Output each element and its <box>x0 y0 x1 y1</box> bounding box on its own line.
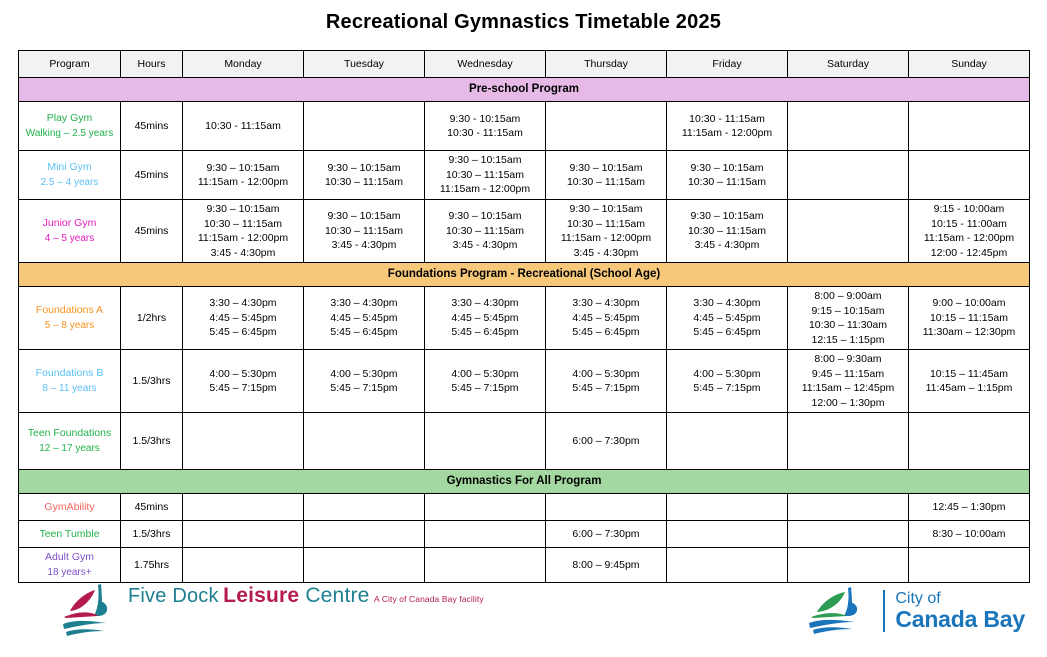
session-cell-monday: 9:30 – 10:15am11:15am - 12:00pm <box>183 151 304 200</box>
session-time: 3:45 - 4:30pm <box>306 238 422 253</box>
column-header-sunday: Sunday <box>909 51 1030 78</box>
session-time: 5:45 – 7:15pm <box>185 381 301 396</box>
session-time: 4:00 – 5:30pm <box>185 367 301 382</box>
session-time: 5:45 – 7:15pm <box>669 381 785 396</box>
session-time: 5:45 – 6:45pm <box>185 325 301 340</box>
session-time: 9:30 – 10:15am <box>669 209 785 224</box>
session-time: 9:30 – 10:15am <box>185 202 301 217</box>
column-header-wednesday: Wednesday <box>425 51 546 78</box>
program-name: Play Gym <box>21 111 118 126</box>
section-header-row-preschool: Pre-school Program <box>19 78 1030 102</box>
program-name: Foundations B <box>21 366 118 381</box>
session-time: 3:45 - 4:30pm <box>185 246 301 261</box>
session-time: 4:00 – 5:30pm <box>427 367 543 382</box>
session-cell-friday <box>667 494 788 521</box>
session-time: 11:15am – 12:45pm <box>790 381 906 396</box>
session-cell-sunday <box>909 102 1030 151</box>
session-cell-monday: 3:30 – 4:30pm4:45 – 5:45pm5:45 – 6:45pm <box>183 287 304 350</box>
session-time: 5:45 – 6:45pm <box>669 325 785 340</box>
session-time: 11:15am - 12:00pm <box>427 182 543 197</box>
session-cell-thursday: 9:30 – 10:15am10:30 – 11:15am <box>546 151 667 200</box>
section-heading: Pre-school Program <box>19 78 1030 102</box>
session-time: 5:45 – 6:45pm <box>306 325 422 340</box>
header-row: ProgramHoursMondayTuesdayWednesdayThursd… <box>19 51 1030 78</box>
logo-line-2-bold: Leisure <box>223 584 299 607</box>
session-time: 8:30 – 10:00am <box>911 527 1027 542</box>
table-row: Play GymWalking – 2.5 years45mins10:30 -… <box>19 102 1030 151</box>
session-time: 10:30 – 11:15am <box>427 168 543 183</box>
session-cell-wednesday <box>425 494 546 521</box>
session-time: 4:45 – 5:45pm <box>185 311 301 326</box>
column-header-monday: Monday <box>183 51 304 78</box>
session-cell-friday: 9:30 – 10:15am10:30 – 11:15am <box>667 151 788 200</box>
session-time: 8:00 – 9:45pm <box>548 558 664 573</box>
session-time: 10:30 – 11:15am <box>306 175 422 190</box>
table-row: Teen Tumble1.5/3hrs6:00 – 7:30pm8:30 – 1… <box>19 521 1030 548</box>
session-cell-tuesday <box>304 413 425 470</box>
session-cell-wednesday: 9:30 – 10:15am10:30 – 11:15am3:45 - 4:30… <box>425 200 546 263</box>
city-of-canada-bay-logo: City of Canada Bay <box>801 585 1025 637</box>
session-cell-tuesday <box>304 494 425 521</box>
session-cell-wednesday <box>425 521 546 548</box>
session-time: 10:15 - 11:00am <box>911 217 1027 232</box>
session-time: 11:15am - 12:00pm <box>185 231 301 246</box>
hours-cell: 45mins <box>121 494 183 521</box>
session-time: 4:00 – 5:30pm <box>669 367 785 382</box>
session-time: 5:45 – 6:45pm <box>427 325 543 340</box>
column-header-thursday: Thursday <box>546 51 667 78</box>
session-cell-tuesday: 4:00 – 5:30pm5:45 – 7:15pm <box>304 350 425 413</box>
session-cell-sunday: 9:00 – 10:00am10:15 – 11:15am11:30am – 1… <box>909 287 1030 350</box>
program-name: Foundations A <box>21 303 118 318</box>
section-heading: Gymnastics For All Program <box>19 470 1030 494</box>
session-cell-monday <box>183 494 304 521</box>
program-cell: Teen Foundations12 – 17 years <box>19 413 121 470</box>
session-time: 10:30 – 11:15am <box>548 175 664 190</box>
session-time: 3:30 – 4:30pm <box>669 296 785 311</box>
program-age-range: Walking – 2.5 years <box>21 127 118 141</box>
session-time: 11:15am - 12:00pm <box>185 175 301 190</box>
hours-cell: 1/2hrs <box>121 287 183 350</box>
session-cell-thursday: 9:30 – 10:15am10:30 – 11:15am11:15am - 1… <box>546 200 667 263</box>
session-time: 10:15 – 11:45am <box>911 367 1027 382</box>
logo-tagline: A City of Canada Bay facility <box>374 594 484 604</box>
table-row: Foundations B8 – 11 years1.5/3hrs4:00 – … <box>19 350 1030 413</box>
session-cell-saturday: 8:00 – 9:00am9:15 – 10:15am10:30 – 11:30… <box>788 287 909 350</box>
program-cell: Mini Gym2.5 – 4 years <box>19 151 121 200</box>
column-header-hours: Hours <box>121 51 183 78</box>
session-time: 10:30 – 11:15am <box>185 217 301 232</box>
session-cell-monday: 9:30 – 10:15am10:30 – 11:15am11:15am - 1… <box>183 200 304 263</box>
session-cell-saturday <box>788 102 909 151</box>
session-cell-thursday <box>546 494 667 521</box>
session-cell-thursday: 4:00 – 5:30pm5:45 – 7:15pm <box>546 350 667 413</box>
session-cell-friday <box>667 521 788 548</box>
session-cell-sunday: 12:45 – 1:30pm <box>909 494 1030 521</box>
session-time: 3:45 - 4:30pm <box>669 238 785 253</box>
session-time: 3:45 - 4:30pm <box>548 246 664 261</box>
session-time: 9:30 – 10:15am <box>548 161 664 176</box>
session-time: 10:30 - 11:15am <box>185 119 301 134</box>
canada-bay-logo-text: City of Canada Bay <box>895 590 1025 632</box>
table-row: Junior Gym4 – 5 years45mins9:30 – 10:15a… <box>19 200 1030 263</box>
column-header-tuesday: Tuesday <box>304 51 425 78</box>
session-cell-wednesday <box>425 413 546 470</box>
program-cell: Teen Tumble <box>19 521 121 548</box>
table-head: ProgramHoursMondayTuesdayWednesdayThursd… <box>19 51 1030 78</box>
program-cell: Junior Gym4 – 5 years <box>19 200 121 263</box>
session-cell-friday: 3:30 – 4:30pm4:45 – 5:45pm5:45 – 6:45pm <box>667 287 788 350</box>
session-time: 9:30 – 10:15am <box>427 209 543 224</box>
session-cell-monday: 4:00 – 5:30pm5:45 – 7:15pm <box>183 350 304 413</box>
session-time: 11:15am - 12:00pm <box>669 126 785 141</box>
program-cell: GymAbility <box>19 494 121 521</box>
session-time: 10:30 – 11:30am <box>790 318 906 333</box>
table-row: GymAbility45mins12:45 – 1:30pm <box>19 494 1030 521</box>
session-time: 9:15 – 10:15am <box>790 304 906 319</box>
session-time: 12:00 – 1:30pm <box>790 396 906 411</box>
program-age-range: 8 – 11 years <box>21 382 118 396</box>
session-time: 9:30 – 10:15am <box>185 161 301 176</box>
page-title: Recreational Gymnastics Timetable 2025 <box>0 0 1047 36</box>
session-cell-friday: 4:00 – 5:30pm5:45 – 7:15pm <box>667 350 788 413</box>
session-cell-sunday <box>909 413 1030 470</box>
canada-bay-line-1: City of <box>895 590 1025 607</box>
program-name: Junior Gym <box>21 216 118 231</box>
session-cell-tuesday <box>304 521 425 548</box>
session-time: 12:00 - 12:45pm <box>911 246 1027 261</box>
session-time: 12:45 – 1:30pm <box>911 500 1027 515</box>
session-time: 3:30 – 4:30pm <box>548 296 664 311</box>
session-cell-tuesday: 9:30 – 10:15am10:30 – 11:15am <box>304 151 425 200</box>
logo-line-2-rest: Centre <box>299 584 369 607</box>
session-cell-saturday <box>788 200 909 263</box>
timetable: ProgramHoursMondayTuesdayWednesdayThursd… <box>18 50 1030 583</box>
table-row: Teen Foundations12 – 17 years1.5/3hrs6:0… <box>19 413 1030 470</box>
session-cell-wednesday: 4:00 – 5:30pm5:45 – 7:15pm <box>425 350 546 413</box>
five-dock-logo-text: Five Dock Leisure Centre A City of Canad… <box>128 581 484 607</box>
session-time: 5:45 – 7:15pm <box>548 381 664 396</box>
program-age-range: 2.5 – 4 years <box>21 176 118 190</box>
session-time: 11:15am - 12:00pm <box>911 231 1027 246</box>
logo-vertical-divider <box>883 590 885 632</box>
session-time: 11:30am – 12:30pm <box>911 325 1027 340</box>
session-time: 9:15 - 10:00am <box>911 202 1027 217</box>
program-age-range: 5 – 8 years <box>21 319 118 333</box>
column-header-friday: Friday <box>667 51 788 78</box>
table-body: Pre-school ProgramPlay GymWalking – 2.5 … <box>19 78 1030 583</box>
session-time: 4:45 – 5:45pm <box>669 311 785 326</box>
section-heading: Foundations Program - Recreational (Scho… <box>19 263 1030 287</box>
program-cell: Play GymWalking – 2.5 years <box>19 102 121 151</box>
hours-cell: 1.5/3hrs <box>121 521 183 548</box>
session-cell-friday: 10:30 - 11:15am11:15am - 12:00pm <box>667 102 788 151</box>
session-cell-sunday: 10:15 – 11:45am11:45am – 1:15pm <box>909 350 1030 413</box>
session-cell-monday: 10:30 - 11:15am <box>183 102 304 151</box>
session-cell-sunday: 9:15 - 10:00am10:15 - 11:00am11:15am - 1… <box>909 200 1030 263</box>
session-time: 9:30 – 10:15am <box>427 153 543 168</box>
session-time: 5:45 – 6:45pm <box>548 325 664 340</box>
logo-line-2: Leisure Centre <box>223 584 369 607</box>
session-time: 3:30 – 4:30pm <box>306 296 422 311</box>
hours-cell: 45mins <box>121 151 183 200</box>
session-time: 10:30 – 11:15am <box>669 175 785 190</box>
timetable-container: ProgramHoursMondayTuesdayWednesdayThursd… <box>0 36 1047 583</box>
hours-cell: 1.5/3hrs <box>121 413 183 470</box>
session-time: 9:30 – 10:15am <box>306 209 422 224</box>
canada-bay-sailboat-icon <box>801 585 873 637</box>
session-time: 11:45am – 1:15pm <box>911 381 1027 396</box>
session-cell-thursday <box>546 102 667 151</box>
program-name: Adult Gym <box>21 550 118 565</box>
logo-line-1: Five Dock <box>128 585 219 607</box>
session-cell-tuesday: 3:30 – 4:30pm4:45 – 5:45pm5:45 – 6:45pm <box>304 287 425 350</box>
session-cell-monday <box>183 413 304 470</box>
session-time: 9:45 – 11:15am <box>790 367 906 382</box>
program-cell: Foundations B8 – 11 years <box>19 350 121 413</box>
session-cell-tuesday: 9:30 – 10:15am10:30 – 11:15am3:45 - 4:30… <box>304 200 425 263</box>
program-cell: Foundations A5 – 8 years <box>19 287 121 350</box>
hours-cell: 1.5/3hrs <box>121 350 183 413</box>
session-time: 4:45 – 5:45pm <box>427 311 543 326</box>
session-time: 4:00 – 5:30pm <box>306 367 422 382</box>
program-name: GymAbility <box>21 500 118 515</box>
session-time: 9:30 – 10:15am <box>669 161 785 176</box>
footer: Five Dock Leisure Centre A City of Canad… <box>0 577 1047 657</box>
session-cell-friday <box>667 413 788 470</box>
session-cell-thursday: 6:00 – 7:30pm <box>546 413 667 470</box>
session-time: 4:45 – 5:45pm <box>306 311 422 326</box>
table-row: Foundations A5 – 8 years1/2hrs3:30 – 4:3… <box>19 287 1030 350</box>
session-cell-sunday: 8:30 – 10:00am <box>909 521 1030 548</box>
session-time: 10:30 - 11:15am <box>427 126 543 141</box>
session-cell-thursday: 3:30 – 4:30pm4:45 – 5:45pm5:45 – 6:45pm <box>546 287 667 350</box>
session-time: 3:45 - 4:30pm <box>427 238 543 253</box>
hours-cell: 45mins <box>121 102 183 151</box>
column-header-program: Program <box>19 51 121 78</box>
session-cell-tuesday <box>304 102 425 151</box>
session-time: 10:30 – 11:15am <box>427 224 543 239</box>
session-cell-sunday <box>909 151 1030 200</box>
program-name: Mini Gym <box>21 160 118 175</box>
session-time: 8:00 – 9:00am <box>790 289 906 304</box>
column-header-saturday: Saturday <box>788 51 909 78</box>
session-time: 6:00 – 7:30pm <box>548 527 664 542</box>
session-time: 10:30 - 11:15am <box>669 112 785 127</box>
sailboat-wave-icon <box>58 581 120 639</box>
session-time: 10:15 – 11:15am <box>911 311 1027 326</box>
session-time: 5:45 – 7:15pm <box>427 381 543 396</box>
session-time: 10:30 – 11:15am <box>548 217 664 232</box>
session-cell-saturday <box>788 521 909 548</box>
canada-bay-line-2: Canada Bay <box>895 607 1025 632</box>
session-cell-monday <box>183 521 304 548</box>
session-cell-wednesday: 9:30 - 10:15am10:30 - 11:15am <box>425 102 546 151</box>
session-cell-thursday: 6:00 – 7:30pm <box>546 521 667 548</box>
program-age-range: 4 – 5 years <box>21 232 118 246</box>
hours-cell: 45mins <box>121 200 183 263</box>
section-header-row-foundations: Foundations Program - Recreational (Scho… <box>19 263 1030 287</box>
session-time: 9:30 – 10:15am <box>306 161 422 176</box>
program-name: Teen Tumble <box>21 527 118 542</box>
session-time: 6:00 – 7:30pm <box>548 434 664 449</box>
five-dock-leisure-centre-logo: Five Dock Leisure Centre A City of Canad… <box>58 581 484 639</box>
session-cell-saturday: 8:00 – 9:30am9:45 – 11:15am11:15am – 12:… <box>788 350 909 413</box>
session-cell-saturday <box>788 413 909 470</box>
session-time: 10:30 – 11:15am <box>306 224 422 239</box>
session-time: 3:30 – 4:30pm <box>427 296 543 311</box>
session-time: 9:30 - 10:15am <box>427 112 543 127</box>
session-time: 9:30 – 10:15am <box>548 202 664 217</box>
program-age-range: 12 – 17 years <box>21 442 118 456</box>
session-time: 8:00 – 9:30am <box>790 352 906 367</box>
session-time: 4:45 – 5:45pm <box>548 311 664 326</box>
session-time: 10:30 – 11:15am <box>669 224 785 239</box>
session-time: 11:15am - 12:00pm <box>548 231 664 246</box>
table-row: Mini Gym2.5 – 4 years45mins9:30 – 10:15a… <box>19 151 1030 200</box>
session-cell-saturday <box>788 494 909 521</box>
session-cell-wednesday: 3:30 – 4:30pm4:45 – 5:45pm5:45 – 6:45pm <box>425 287 546 350</box>
session-cell-wednesday: 9:30 – 10:15am10:30 – 11:15am11:15am - 1… <box>425 151 546 200</box>
session-time: 5:45 – 7:15pm <box>306 381 422 396</box>
session-time: 3:30 – 4:30pm <box>185 296 301 311</box>
program-name: Teen Foundations <box>21 426 118 441</box>
timetable-page: Recreational Gymnastics Timetable 2025 P… <box>0 0 1047 657</box>
session-time: 12:15 – 1:15pm <box>790 333 906 348</box>
section-header-row-gymall: Gymnastics For All Program <box>19 470 1030 494</box>
session-time: 4:00 – 5:30pm <box>548 367 664 382</box>
session-cell-friday: 9:30 – 10:15am10:30 – 11:15am3:45 - 4:30… <box>667 200 788 263</box>
session-time: 9:00 – 10:00am <box>911 296 1027 311</box>
session-cell-saturday <box>788 151 909 200</box>
